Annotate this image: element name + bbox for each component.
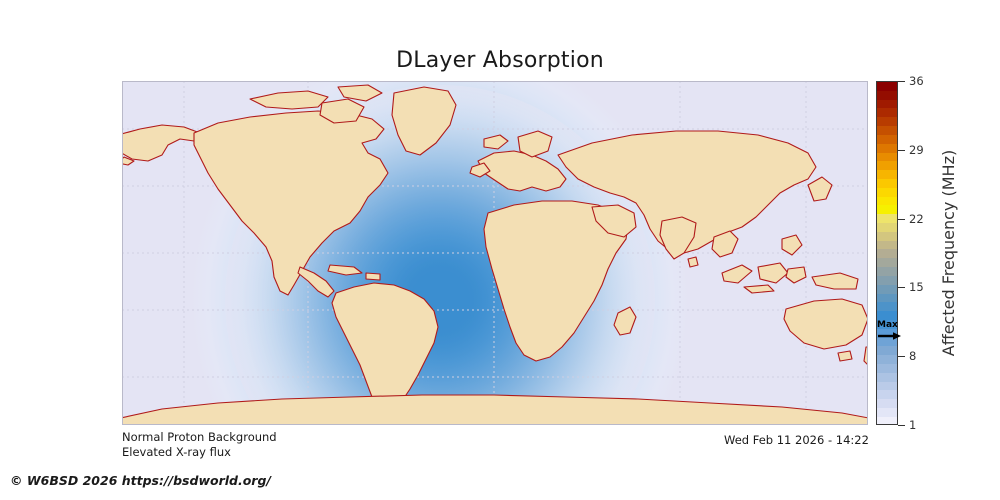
colorbar-band <box>877 161 897 170</box>
colorbar-band <box>877 285 897 294</box>
colorbar-band <box>877 258 897 267</box>
page-title: DLayer Absorption <box>0 48 1000 73</box>
colorbar-tick <box>898 219 905 220</box>
colorbar-tick-label: 15 <box>909 280 924 294</box>
colorbar-band <box>877 320 897 329</box>
land-tasmania <box>838 351 852 361</box>
colorbar-band <box>877 108 897 117</box>
colorbar-band <box>877 382 897 391</box>
colorbar-band <box>877 126 897 135</box>
colorbar-tick-label: 1 <box>909 418 916 432</box>
colorbar-tick-label: 22 <box>909 212 924 226</box>
colorbar-band <box>877 408 897 417</box>
colorbar-tick-label: 36 <box>909 74 924 88</box>
colorbar-band <box>877 249 897 258</box>
colorbar-band <box>877 82 897 91</box>
colorbar-band <box>877 170 897 179</box>
colorbar-band <box>877 267 897 276</box>
timestamp-label: Wed Feb 11 2026 - 14:22 <box>724 433 869 447</box>
colorbar-band <box>877 117 897 126</box>
colorbar-band <box>877 153 897 162</box>
colorbar-band <box>877 223 897 232</box>
colorbar-band <box>877 276 897 285</box>
colorbar-band <box>877 135 897 144</box>
colorbar-band <box>877 417 897 425</box>
colorbar-band <box>877 355 897 364</box>
proton-status-text: Normal Proton Background <box>122 430 277 444</box>
colorbar-band <box>877 338 897 347</box>
colorbar-band <box>877 91 897 100</box>
land-sri-lanka <box>688 257 698 267</box>
colorbar-band <box>877 390 897 399</box>
colorbar-band <box>877 214 897 223</box>
colorbar-band <box>877 364 897 373</box>
xray-status-text: Elevated X-ray flux <box>122 445 231 459</box>
colorbar-tick <box>898 287 905 288</box>
colorbar-band <box>877 188 897 197</box>
colorbar-tick-label: 29 <box>909 143 924 157</box>
colorbar-band <box>877 302 897 311</box>
colorbar-axis-label: Affected Frequency (MHz) <box>938 81 960 425</box>
map-panel[interactable] <box>122 81 868 425</box>
colorbar-band <box>877 144 897 153</box>
colorbar-band <box>877 294 897 303</box>
colorbar-tick <box>898 81 905 82</box>
colorbar-band <box>877 329 897 338</box>
colorbar-tick-label: 8 <box>909 349 916 363</box>
colorbar-band <box>877 311 897 320</box>
colorbar-band <box>877 232 897 241</box>
colorbar-band <box>877 346 897 355</box>
colorbar-band <box>877 399 897 408</box>
colorbar-band <box>877 179 897 188</box>
colorbar-band <box>877 197 897 206</box>
colorbar-band <box>877 241 897 250</box>
colorbar-band <box>877 205 897 214</box>
copyright-notice: © W6BSD 2026 https://bsdworld.org/ <box>10 473 271 488</box>
colorbar-gradient <box>876 81 898 425</box>
colorbar-tick <box>898 150 905 151</box>
colorbar[interactable] <box>876 81 898 425</box>
colorbar-band <box>877 100 897 109</box>
colorbar-tick <box>898 356 905 357</box>
world-map[interactable] <box>122 81 868 425</box>
colorbar-tick <box>898 425 905 426</box>
colorbar-band <box>877 373 897 382</box>
land-hispaniola <box>366 273 380 280</box>
